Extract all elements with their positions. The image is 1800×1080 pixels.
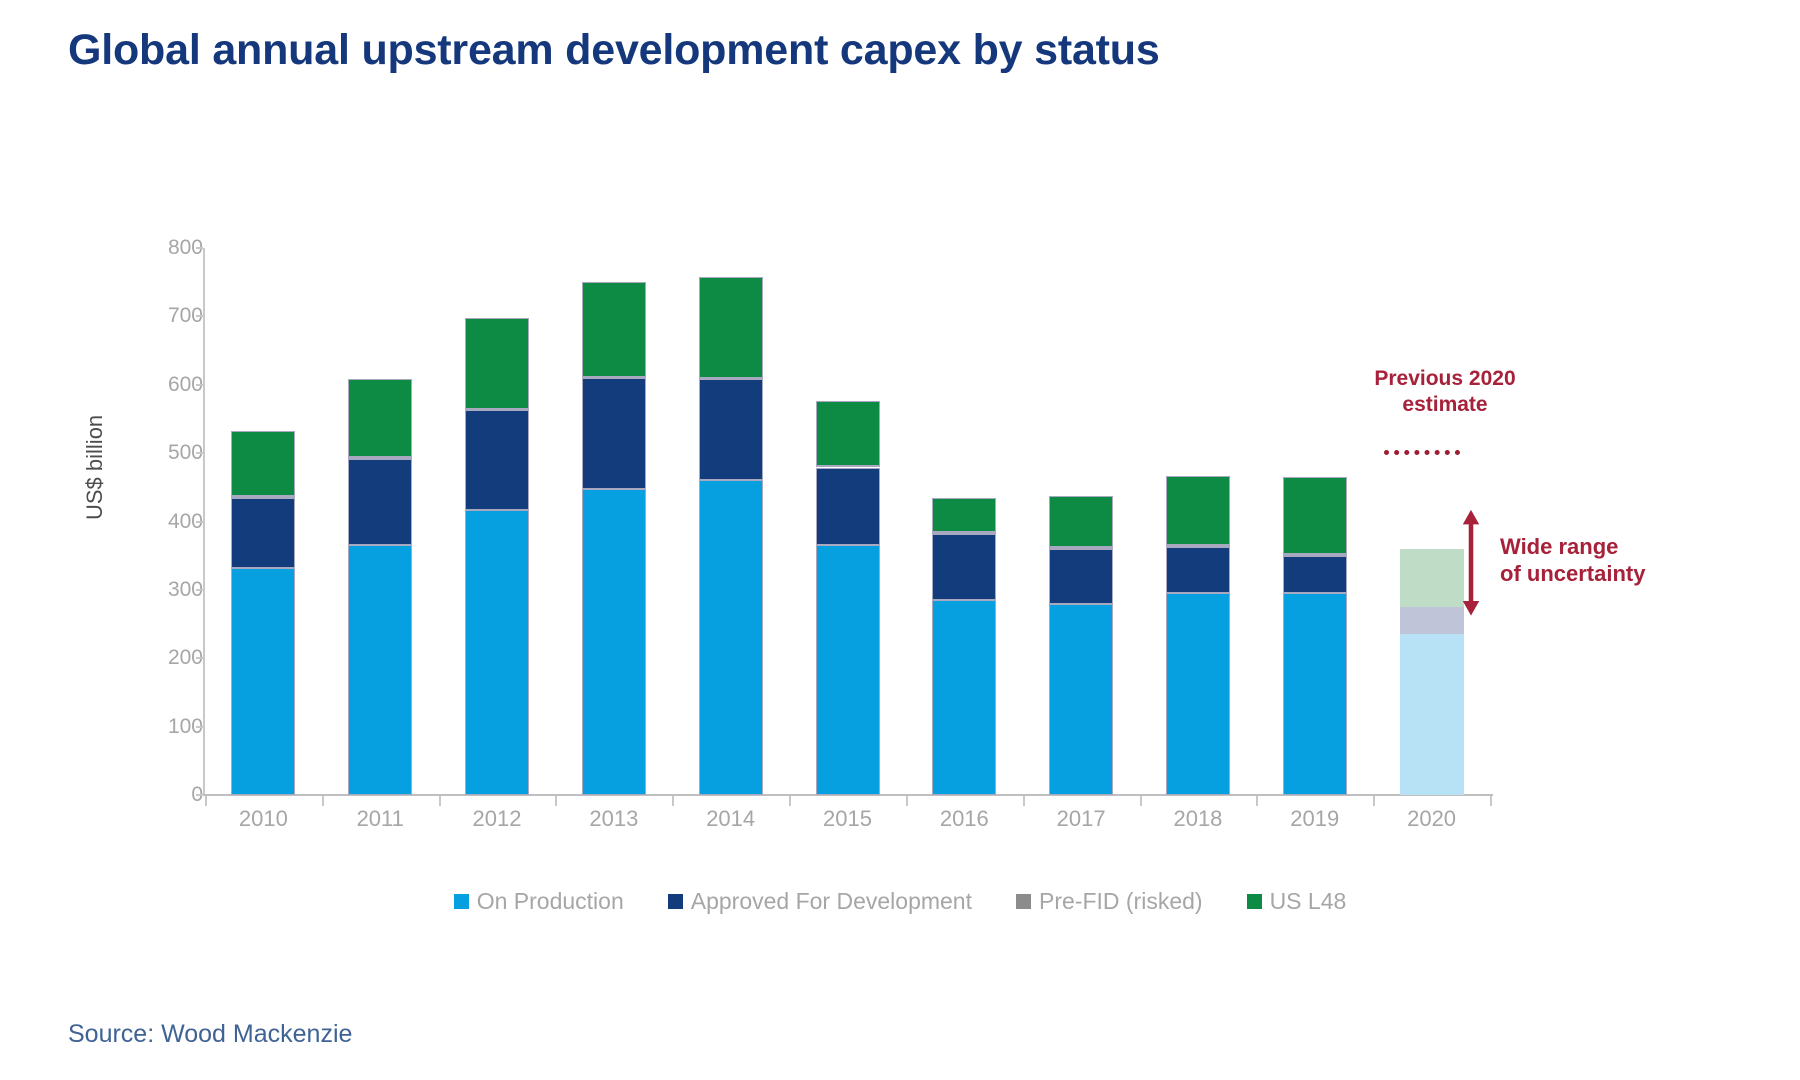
bar-segment[interactable] — [231, 498, 295, 568]
y-axis-tick-mark — [196, 657, 203, 659]
bar-segment[interactable] — [1166, 547, 1230, 593]
bar-segment[interactable] — [582, 489, 646, 795]
y-axis-tick-mark — [196, 452, 203, 454]
legend-swatch-icon — [454, 894, 469, 909]
bar-group-2015[interactable] — [816, 248, 880, 795]
bar-segment[interactable] — [1049, 496, 1113, 547]
x-axis-tick-mark — [1023, 796, 1025, 806]
source-note: Source: Wood Mackenzie — [68, 1020, 352, 1049]
legend-label: Approved For Development — [691, 888, 972, 915]
x-axis-tick-label: 2014 — [706, 806, 755, 832]
x-axis-tick-label: 2010 — [239, 806, 288, 832]
legend-item-pre_fid[interactable]: Pre-FID (risked) — [1016, 888, 1203, 915]
bar-segment[interactable] — [348, 545, 412, 795]
y-axis-tick-label: 500 — [133, 441, 203, 465]
bar-segment[interactable] — [699, 480, 763, 795]
legend-item-us_l48[interactable]: US L48 — [1247, 888, 1347, 915]
x-axis-tick-mark — [439, 796, 441, 806]
bar-segment[interactable] — [582, 378, 646, 489]
bar-segment[interactable] — [465, 410, 529, 510]
legend-item-approved_for_development[interactable]: Approved For Development — [668, 888, 972, 915]
bar-segment[interactable] — [1283, 477, 1347, 554]
x-axis-tick-label: 2017 — [1057, 806, 1106, 832]
y-axis-tick-label: 300 — [133, 578, 203, 602]
previous-estimate-line-2: estimate — [1402, 393, 1487, 416]
y-axis-tick-label: 600 — [133, 373, 203, 397]
y-axis-tick-label: 400 — [133, 510, 203, 534]
bar-segment[interactable] — [348, 379, 412, 457]
x-axis-tick-mark — [672, 796, 674, 806]
bar-segment[interactable] — [699, 277, 763, 378]
previous-estimate-annotation: Previous 2020 estimate — [1355, 366, 1535, 419]
bar-segment[interactable] — [1283, 593, 1347, 795]
y-axis-tick-label: 800 — [133, 236, 203, 260]
y-axis-tick-mark — [196, 794, 203, 796]
y-axis-tick-mark — [196, 589, 203, 591]
bar-segment[interactable] — [1400, 607, 1464, 634]
bar-segment[interactable] — [582, 282, 646, 376]
bar-segment[interactable] — [1400, 634, 1464, 795]
bar-segment[interactable] — [1283, 556, 1347, 594]
bar-segment[interactable] — [816, 401, 880, 467]
legend-swatch-icon — [1247, 894, 1262, 909]
x-axis-tick-mark — [205, 796, 207, 806]
bar-segment[interactable] — [231, 431, 295, 496]
bar-segment[interactable] — [816, 545, 880, 795]
bar-group-2010[interactable] — [231, 248, 295, 795]
bar-segment[interactable] — [465, 318, 529, 409]
bar-segment[interactable] — [816, 468, 880, 546]
y-axis-title: US$ billion — [82, 415, 108, 520]
x-axis-tick-label: 2018 — [1173, 806, 1222, 832]
x-axis-tick-label: 2011 — [357, 806, 404, 832]
bar-group-2019[interactable] — [1283, 248, 1347, 795]
bar-segment[interactable] — [1049, 604, 1113, 795]
y-axis-tick-label: 200 — [133, 646, 203, 670]
legend-swatch-icon — [1016, 894, 1031, 909]
x-axis-tick-mark — [1140, 796, 1142, 806]
chart-legend: On ProductionApproved For DevelopmentPre… — [0, 888, 1800, 915]
y-axis-tick-label: 0 — [133, 783, 203, 807]
y-axis-tick-mark — [196, 521, 203, 523]
legend-label: US L48 — [1270, 888, 1347, 915]
bar-segment[interactable] — [932, 498, 996, 532]
y-axis-tick-mark — [196, 726, 203, 728]
y-axis-tick-label: 100 — [133, 715, 203, 739]
bar-segment[interactable] — [699, 379, 763, 480]
x-axis-tick-mark — [906, 796, 908, 806]
bar-group-2011[interactable] — [348, 248, 412, 795]
x-axis-tick-label: 2013 — [589, 806, 638, 832]
bar-segment[interactable] — [465, 510, 529, 795]
previous-estimate-dotted-line — [1384, 450, 1460, 455]
bar-segment[interactable] — [1166, 476, 1230, 546]
bar-segment[interactable] — [932, 600, 996, 795]
bar-group-2013[interactable] — [582, 248, 646, 795]
x-axis-tick-label: 2012 — [473, 806, 522, 832]
bar-segment[interactable] — [1166, 593, 1230, 795]
uncertainty-line-1: Wide range — [1500, 534, 1618, 559]
x-axis-tick-mark — [1256, 796, 1258, 806]
uncertainty-annotation: Wide range of uncertainty — [1500, 533, 1710, 588]
bar-group-2017[interactable] — [1049, 248, 1113, 795]
y-axis-ticks: 8007006005004003002001000 — [126, 0, 203, 1080]
bar-segment[interactable] — [932, 534, 996, 600]
y-axis-tick-mark — [196, 247, 203, 249]
x-axis-tick-mark — [322, 796, 324, 806]
x-axis-tick-mark — [1490, 796, 1492, 806]
bar-group-2012[interactable] — [465, 248, 529, 795]
bar-group-2016[interactable] — [932, 248, 996, 795]
bar-group-2020[interactable] — [1400, 248, 1464, 795]
legend-swatch-icon — [668, 894, 683, 909]
bar-segment[interactable] — [348, 459, 412, 546]
y-axis-tick-mark — [196, 384, 203, 386]
legend-label: Pre-FID (risked) — [1039, 888, 1203, 915]
legend-label: On Production — [477, 888, 624, 915]
x-axis-tick-mark — [555, 796, 557, 806]
y-axis-tick-label: 700 — [133, 304, 203, 328]
x-axis-tick-mark — [789, 796, 791, 806]
bar-segment[interactable] — [1400, 549, 1464, 607]
page-title: Global annual upstream development capex… — [68, 26, 1160, 75]
chart-container: Global annual upstream development capex… — [0, 0, 1800, 1080]
uncertainty-line-2: of uncertainty — [1500, 561, 1645, 586]
uncertainty-double-arrow-icon — [1456, 508, 1486, 617]
previous-estimate-line-1: Previous 2020 — [1374, 367, 1515, 390]
y-axis-tick-mark — [196, 315, 203, 317]
x-axis-tick-mark — [1373, 796, 1375, 806]
bar-group-2014[interactable] — [699, 248, 763, 795]
x-axis-tick-label: 2019 — [1290, 806, 1339, 832]
x-axis-tick-label: 2015 — [823, 806, 872, 832]
x-axis-tick-label: 2020 — [1407, 806, 1456, 832]
bar-segment[interactable] — [231, 568, 295, 795]
bar-group-2018[interactable] — [1166, 248, 1230, 795]
legend-item-on_production[interactable]: On Production — [454, 888, 624, 915]
bar-segment[interactable] — [1049, 549, 1113, 604]
plot-area — [205, 248, 1490, 795]
x-axis-tick-label: 2016 — [940, 806, 989, 832]
